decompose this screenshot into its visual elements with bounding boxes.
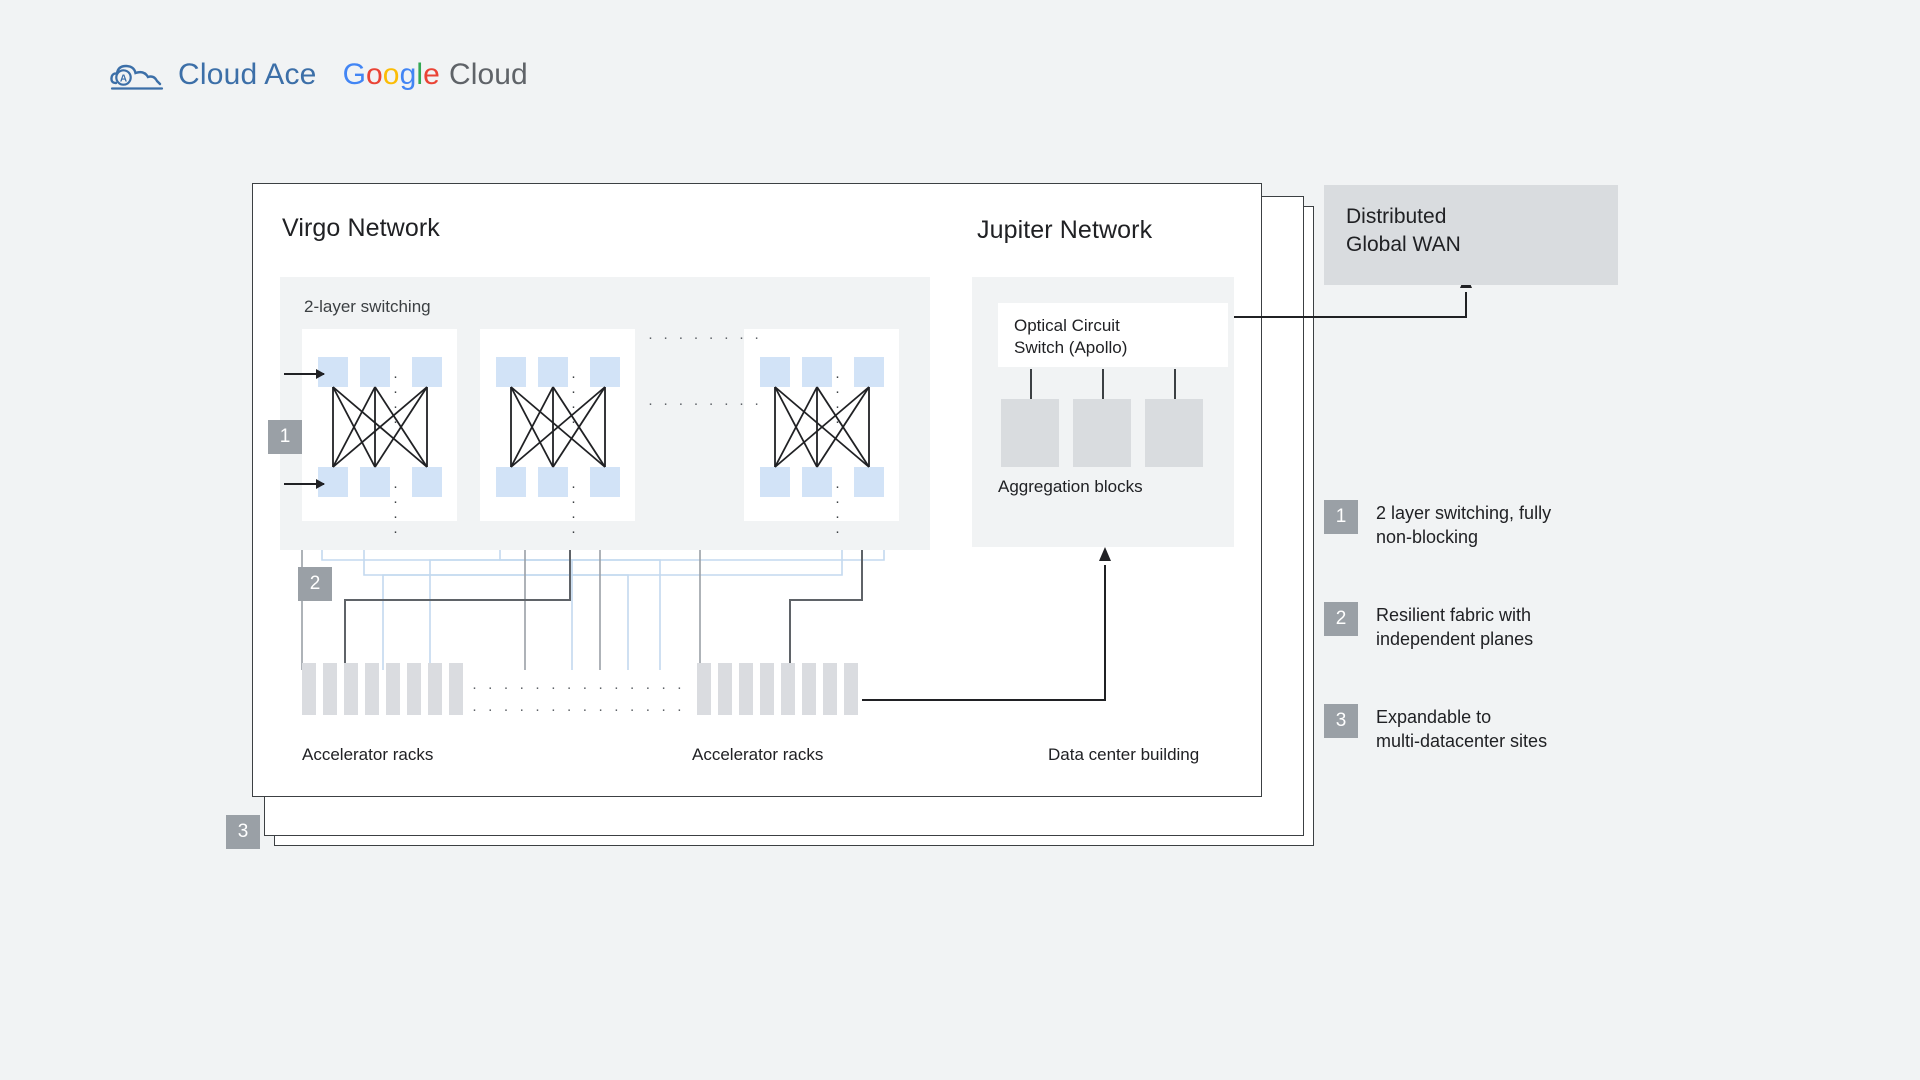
- rack-unit: [323, 663, 337, 715]
- wan-label-line-1: Distributed: [1346, 203, 1461, 231]
- aggregation-block: [1001, 399, 1059, 467]
- google-cloud-suffix: Cloud: [449, 58, 528, 92]
- google-wordmark: Google: [343, 58, 440, 92]
- jupiter-network-title: Jupiter Network: [977, 216, 1152, 245]
- switch-block-ellipsis-upper: · · · · · · · ·: [648, 330, 762, 345]
- rack-unit: [718, 663, 732, 715]
- ocs-label-line-2: Switch (Apollo): [1014, 337, 1127, 359]
- legend-text-2-line-2: independent planes: [1376, 627, 1533, 651]
- ingress-arrow-top: [284, 373, 324, 375]
- rack-unit: [449, 663, 463, 715]
- rack-unit: [697, 663, 711, 715]
- switching-panel-label: 2-layer switching: [304, 297, 431, 317]
- crossbar-3: · · · · · · · ·: [760, 357, 884, 497]
- optical-circuit-switch-box: Optical Circuit Switch (Apollo): [998, 303, 1228, 367]
- legend-text-1-line-1: 2 layer switching, fully: [1376, 501, 1551, 525]
- cloud-ace-logo: A Cloud Ace: [110, 58, 317, 92]
- rack-unit: [823, 663, 837, 715]
- rack-ellipsis-lower: · · · · · · · · · · · · · · · · · · · · …: [472, 702, 692, 717]
- rack-unit: [407, 663, 421, 715]
- jupiter-panel: Optical Circuit Switch (Apollo) Aggregat…: [972, 277, 1234, 547]
- wan-label-line-2: Global WAN: [1346, 231, 1461, 259]
- rack-unit: [365, 663, 379, 715]
- legend-text-2: Resilient fabric with independent planes: [1376, 602, 1533, 652]
- virgo-network-title: Virgo Network: [282, 214, 440, 243]
- aggregation-block: [1073, 399, 1131, 467]
- rack-unit: [739, 663, 753, 715]
- wan-label: Distributed Global WAN: [1346, 203, 1461, 259]
- diagram-canvas: A Cloud Ace Google Cloud Virgo Network J…: [0, 0, 1920, 1080]
- distributed-global-wan-box: Distributed Global WAN: [1324, 185, 1618, 285]
- rack-ellipsis-upper: · · · · · · · · · · · · · · · · · · · · …: [472, 680, 692, 695]
- legend-text-3: Expandable to multi-datacenter sites: [1376, 704, 1547, 754]
- aggregation-blocks-label: Aggregation blocks: [998, 477, 1143, 497]
- ingress-arrow-bottom: [284, 483, 324, 485]
- legend-text-3-line-2: multi-datacenter sites: [1376, 729, 1547, 753]
- switch-block-2: · · · · · · · ·: [480, 329, 635, 521]
- aggregation-block: [1145, 399, 1203, 467]
- accelerator-racks-label-left: Accelerator racks: [302, 745, 433, 765]
- rack-unit: [428, 663, 442, 715]
- legend-text-1: 2 layer switching, fully non-blocking: [1376, 500, 1551, 550]
- rack-unit: [781, 663, 795, 715]
- virgo-switching-panel: 2-layer switching · · · · · · · ·: [280, 277, 930, 550]
- inline-badge-1: 1: [268, 420, 302, 454]
- ocs-link-3: [1174, 369, 1176, 399]
- crossbar-links-3: [760, 357, 884, 497]
- rack-unit: [760, 663, 774, 715]
- rack-unit: [344, 663, 358, 715]
- legend-text-3-line-1: Expandable to: [1376, 705, 1547, 729]
- inline-badge-2: 2: [298, 567, 332, 601]
- legend-item-3: 3 Expandable to multi-datacenter sites: [1324, 704, 1624, 754]
- legend-item-1: 1 2 layer switching, fully non-blocking: [1324, 500, 1624, 550]
- ocs-link-1: [1030, 369, 1032, 399]
- accelerator-rack-group-right: [697, 663, 858, 715]
- optical-circuit-switch-label: Optical Circuit Switch (Apollo): [1014, 315, 1127, 360]
- crossbar-2: · · · · · · · ·: [496, 357, 620, 497]
- legend-badge-2: 2: [1324, 602, 1358, 636]
- legend-badge-3: 3: [1324, 704, 1358, 738]
- legend: 1 2 layer switching, fully non-blocking …: [1324, 500, 1624, 806]
- legend-text-1-line-2: non-blocking: [1376, 525, 1551, 549]
- legend-badge-1: 1: [1324, 500, 1358, 534]
- cloud-ace-wordmark: Cloud Ace: [178, 58, 317, 92]
- google-cloud-logo: Google Cloud: [343, 58, 528, 92]
- inline-badge-3: 3: [226, 815, 260, 849]
- switch-block-ellipsis-lower: · · · · · · · ·: [648, 396, 762, 411]
- accelerator-racks-label-right: Accelerator racks: [692, 745, 823, 765]
- accelerator-rack-group-left: [302, 663, 463, 715]
- cloud-ace-cloud-icon: A: [110, 58, 168, 92]
- rack-unit: [386, 663, 400, 715]
- brand-logo-bar: A Cloud Ace Google Cloud: [110, 58, 528, 92]
- rack-unit: [802, 663, 816, 715]
- rack-unit: [302, 663, 316, 715]
- crossbar-links-1: [318, 357, 442, 497]
- legend-item-2: 2 Resilient fabric with independent plan…: [1324, 602, 1624, 652]
- switch-block-1: · · · · · · · ·: [302, 329, 457, 521]
- ocs-link-2: [1102, 369, 1104, 399]
- crossbar-links-2: [496, 357, 620, 497]
- ocs-label-line-1: Optical Circuit: [1014, 315, 1127, 337]
- svg-text:A: A: [120, 74, 127, 85]
- data-center-building-label: Data center building: [1048, 745, 1199, 765]
- legend-text-2-line-1: Resilient fabric with: [1376, 603, 1533, 627]
- switch-block-3: · · · · · · · ·: [744, 329, 899, 521]
- rack-unit: [844, 663, 858, 715]
- crossbar-1: · · · · · · · ·: [318, 357, 442, 497]
